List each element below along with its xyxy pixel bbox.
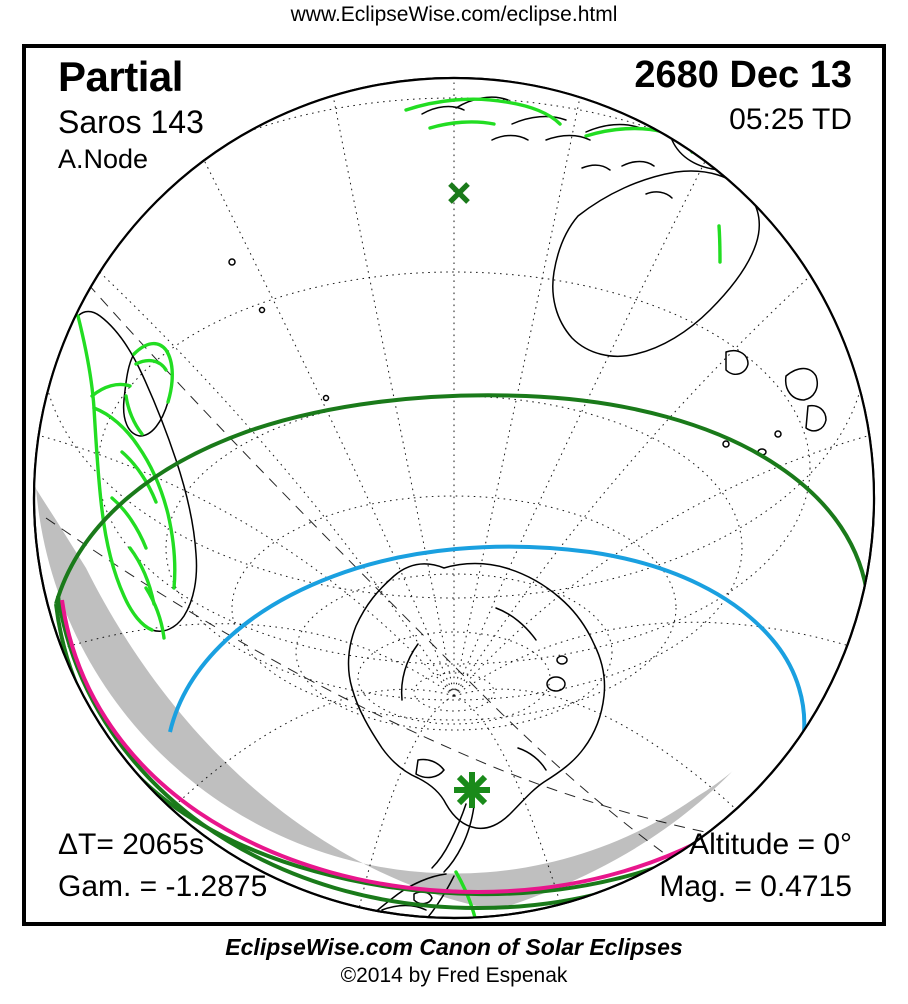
eclipse-page: www.EclipseWise.com/eclipse.html	[0, 0, 908, 1004]
footer-title: EclipseWise.com Canon of Solar Eclipses	[0, 934, 908, 961]
greatest-eclipse-marker	[454, 772, 490, 808]
eclipse-date-label: 2680 Dec 13	[634, 56, 852, 94]
saros-label: Saros 143	[58, 106, 204, 138]
globe-svg	[26, 48, 882, 922]
eclipse-type-label: Partial	[58, 56, 183, 98]
gamma-label: Gam. = -1.2875	[58, 872, 267, 902]
eclipse-time-label: 05:25 TD	[729, 105, 852, 135]
node-label: A.Node	[58, 146, 148, 173]
page-url: www.EclipseWise.com/eclipse.html	[0, 3, 908, 27]
delta-t-label: ΔT= 2065s	[58, 830, 204, 860]
globe-container	[26, 48, 882, 922]
magnitude-label: Mag. = 0.4715	[659, 872, 852, 902]
footer-copyright: ©2014 by Fred Espenak	[0, 964, 908, 988]
eclipse-map-frame: Partial Saros 143 A.Node 2680 Dec 13 05:…	[22, 44, 886, 926]
altitude-label: Altitude = 0°	[689, 830, 852, 860]
